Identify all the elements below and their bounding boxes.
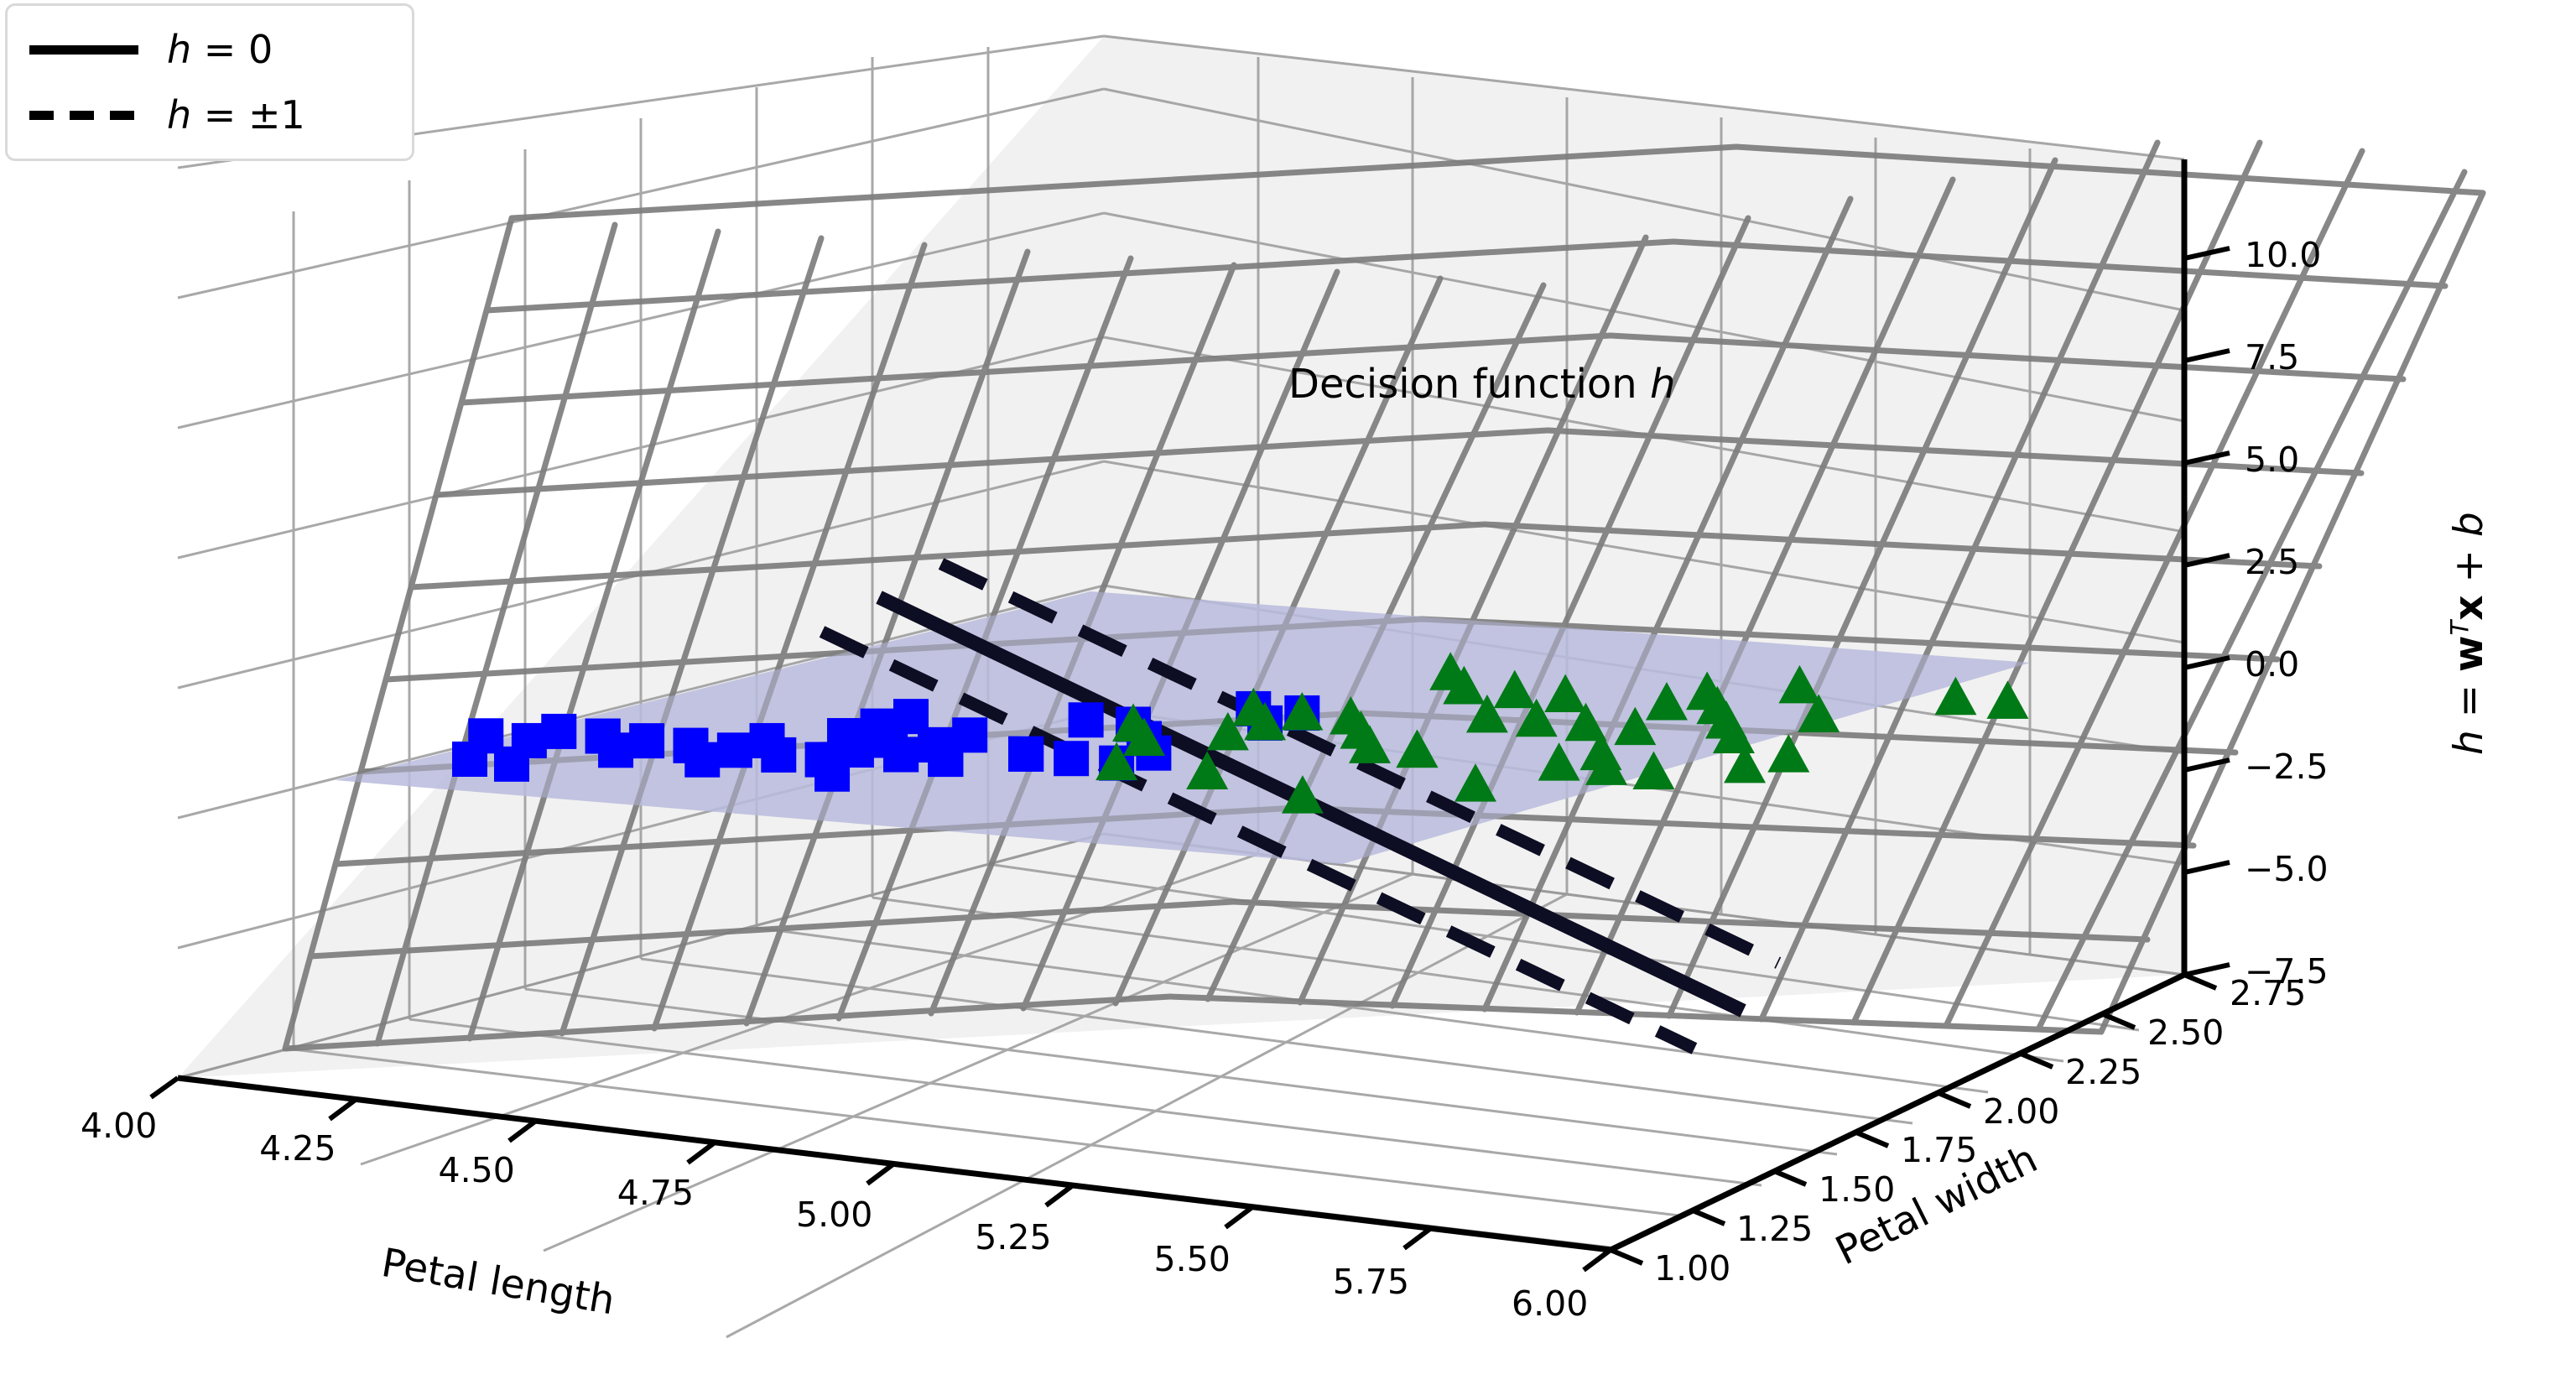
z-tick-label: 0.0 (2245, 644, 2299, 685)
data-point-square (1008, 737, 1043, 772)
x-tick-label: 5.00 (796, 1195, 872, 1235)
legend-box[interactable]: h = 0 h = ±1 (5, 3, 414, 161)
3d-axes-plot (0, 0, 2576, 1390)
decision-function-annotation: Decision function h (1288, 361, 1675, 408)
data-point-square (805, 742, 840, 778)
data-point-square (761, 737, 796, 773)
x-tick-label: 5.50 (1154, 1239, 1231, 1279)
y-tick-label: 2.25 (2065, 1052, 2141, 1092)
data-point-square (468, 718, 503, 753)
annotation-text: Decision function h (1288, 361, 1675, 408)
data-point-square (1069, 702, 1104, 737)
y-tick-label: 2.00 (1983, 1091, 2059, 1132)
y-tick-label: 1.50 (1819, 1169, 1895, 1210)
figure-canvas: Decision function h 4.004.254.504.755.00… (0, 0, 2576, 1390)
z-axis-label: h = wTx + b (2445, 512, 2492, 755)
data-point-square (883, 737, 919, 773)
z-tick-label: −2.5 (2245, 747, 2329, 787)
y-tick-label: 1.00 (1654, 1248, 1730, 1288)
legend-item-h-pm-one[interactable]: h = ±1 (8, 82, 412, 148)
x-tick-label: 4.25 (259, 1128, 336, 1169)
z-tick-label: 2.5 (2245, 542, 2299, 582)
z-tick-label: −7.5 (2245, 951, 2329, 992)
data-point-square (629, 723, 664, 758)
data-point-square (512, 723, 547, 758)
data-point-square (717, 732, 752, 768)
y-tick-label: 2.50 (2147, 1013, 2224, 1053)
x-tick-label: 5.75 (1333, 1262, 1409, 1302)
x-tick-label: 5.25 (975, 1217, 1051, 1257)
legend-label-h-pm-one: h = ±1 (167, 96, 305, 134)
data-point-square (1054, 741, 1089, 776)
z-tick-label: −5.0 (2245, 849, 2329, 889)
data-point-square (585, 719, 621, 754)
data-point-square (673, 728, 708, 763)
x-tick-label: 4.50 (439, 1150, 515, 1190)
z-tick-label: 5.0 (2245, 440, 2299, 480)
z-tick-label: 7.5 (2245, 337, 2299, 377)
x-tick-label: 6.00 (1512, 1283, 1588, 1324)
legend-item-h-zero[interactable]: h = 0 (8, 17, 412, 82)
x-tick-label: 4.75 (617, 1173, 694, 1213)
data-point-square (928, 742, 963, 777)
z-tick-label: 10.0 (2245, 235, 2321, 275)
legend-label-h-zero: h = 0 (167, 30, 273, 69)
y-tick-label: 1.25 (1736, 1209, 1813, 1249)
x-tick-label: 4.00 (81, 1106, 157, 1146)
